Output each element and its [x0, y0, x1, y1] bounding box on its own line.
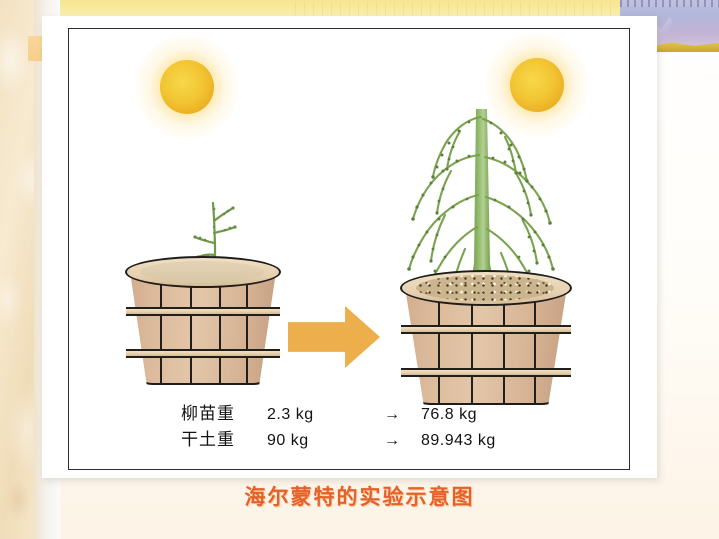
table-row: 柳苗重 2.3 kg → 76.8 kg: [181, 401, 561, 427]
pot-hoop: [126, 307, 280, 316]
row-after-value: 76.8 kg: [421, 402, 561, 427]
pot-hoop: [401, 325, 572, 334]
transition-arrow-icon: [288, 306, 380, 368]
slide-caption: 海尔蒙特的实验示意图: [0, 481, 719, 511]
sun-icon-left: [135, 35, 239, 139]
row-before-value: 90 kg: [267, 428, 363, 453]
pot-hoop: [401, 368, 572, 377]
pot-hoop: [126, 349, 280, 358]
pot-soil: [140, 261, 264, 283]
diagram-frame: 柳苗重 2.3 kg → 76.8 kg 干土重 90 kg → 89.943 …: [68, 28, 630, 470]
pot-left: [129, 265, 277, 385]
pot-right: [404, 281, 568, 405]
row-before-value: 2.3 kg: [267, 402, 363, 427]
row-arrow-icon: →: [363, 428, 421, 453]
row-after-value: 89.943 kg: [421, 428, 561, 453]
row-label: 柳苗重: [181, 401, 267, 426]
slide-stage: 柳苗重 2.3 kg → 76.8 kg 干土重 90 kg → 89.943 …: [0, 0, 719, 539]
measurement-table: 柳苗重 2.3 kg → 76.8 kg 干土重 90 kg → 89.943 …: [181, 401, 561, 453]
pot-soil: [416, 275, 554, 301]
photo-top-edge: [620, 0, 719, 7]
row-arrow-icon: →: [363, 402, 421, 427]
table-row: 干土重 90 kg → 89.943 kg: [181, 427, 561, 453]
sun-disc: [160, 60, 214, 114]
row-label: 干土重: [181, 427, 267, 452]
